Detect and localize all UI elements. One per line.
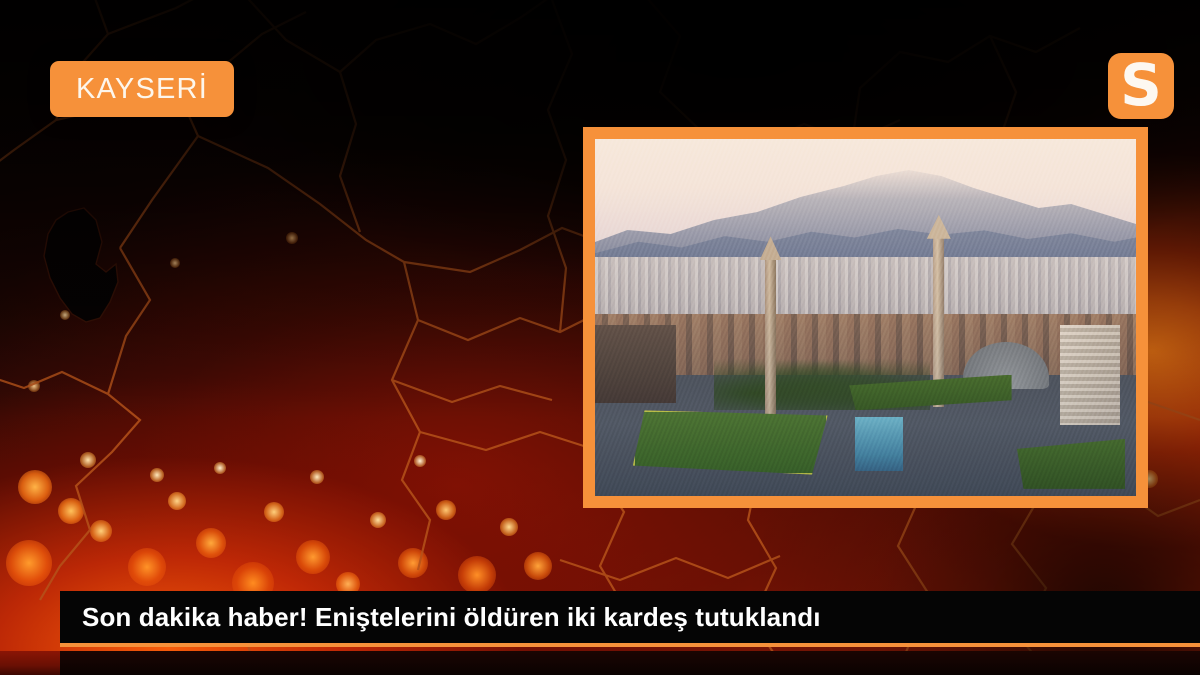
- s-logo[interactable]: S: [1108, 53, 1174, 119]
- photo-grain: [595, 139, 1136, 496]
- photo-frame: [583, 127, 1148, 508]
- headline-text: Son dakika haber! Eniştelerini öldüren i…: [60, 602, 821, 633]
- headline-bar: Son dakika haber! Eniştelerini öldüren i…: [60, 591, 1200, 647]
- kayseri-cityscape-photo: [595, 139, 1136, 496]
- location-badge: KAYSERİ: [50, 61, 234, 117]
- s-logo-glyph: S: [1120, 58, 1162, 112]
- news-graphic: KAYSERİ S Son da: [0, 0, 1200, 675]
- location-badge-label: KAYSERİ: [76, 73, 208, 106]
- bottom-dark-strip: [60, 651, 1200, 675]
